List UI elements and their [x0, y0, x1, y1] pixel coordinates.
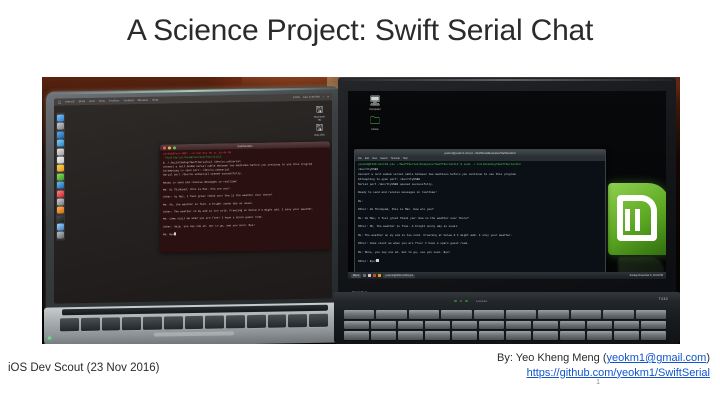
thinkpad-vendor-label: Lenovo: [477, 300, 488, 303]
start-menu-button[interactable]: Menu: [351, 274, 361, 278]
key[interactable]: [506, 310, 536, 319]
thinkpad-lid: 🖥 Computer 🗀 Home yeokm1@yeokm1-mint-pc: [338, 77, 676, 299]
author-prefix: By: Yeo Kheng Meng (: [497, 352, 606, 364]
key[interactable]: [425, 321, 450, 330]
key[interactable]: [371, 321, 396, 330]
footer-event-label: iOS Dev Scout (23 Nov 2016): [8, 362, 160, 374]
mint-taskbar[interactable]: Menu yeokm1@t430-mint64-yko Sunday Novem…: [348, 272, 666, 279]
dock-icon-mail[interactable]: [57, 140, 64, 147]
macos-menubar-status: 100% Sun 9:45 PM ⌕ ≡: [293, 93, 329, 101]
thinkpad-base: Lenovo T430: [334, 292, 680, 344]
key[interactable]: [288, 314, 307, 327]
macos-dock[interactable]: [56, 112, 65, 241]
page-title: A Science Project: Swift Serial Chat: [0, 14, 720, 48]
keyboard-row[interactable]: [344, 321, 666, 330]
key[interactable]: [441, 310, 471, 319]
key[interactable]: [474, 310, 504, 319]
search-icon[interactable]: ⌕: [323, 95, 325, 98]
key[interactable]: [506, 321, 531, 330]
key[interactable]: [560, 321, 585, 330]
menubar-item[interactable]: Help: [152, 99, 158, 102]
desktop-icon-macintosh-hd[interactable]: 🖫 Macintosh HD: [313, 105, 326, 121]
menubar-item[interactable]: Toolbelt: [123, 99, 134, 102]
macbook-trackpad[interactable]: [154, 331, 234, 336]
key[interactable]: [309, 314, 328, 327]
dock-icon-notes[interactable]: [57, 165, 64, 172]
macos-menubar[interactable]:  Xterm2 Shell Edit View Profiles Toolbe…: [54, 93, 332, 105]
computer-icon: 🖥: [364, 97, 386, 107]
key[interactable]: [452, 331, 477, 340]
taskbar-icon[interactable]: [368, 274, 371, 277]
key[interactable]: [344, 310, 374, 319]
dock-icon-launchpad[interactable]: [57, 123, 64, 130]
keyboard-row[interactable]: [344, 331, 666, 340]
author-email-link[interactable]: yeokm1@gmail.com: [607, 352, 707, 364]
repo-url-link[interactable]: https://github.com/yeokm1/SwiftSerial: [527, 367, 710, 379]
menu-search[interactable]: Search: [380, 157, 388, 160]
desktop-icon-home[interactable]: 🗀 Home: [364, 117, 386, 131]
key[interactable]: [371, 331, 396, 340]
text-cursor: [174, 232, 176, 235]
mint-terminal-output: yeokm1@t430-mint64-yko ~/SwiftSerial/Exa…: [355, 161, 605, 279]
terminal-line: Other: Bye!: [358, 259, 602, 265]
status-led-icon: [460, 300, 463, 303]
menubar-item[interactable]: View: [99, 100, 105, 103]
menu-terminal[interactable]: Terminal: [391, 157, 400, 160]
dock-icon-messages[interactable]: [57, 173, 64, 180]
menu-help[interactable]: Help: [403, 157, 408, 160]
author-line: By: Yeo Kheng Meng (yeokm1@gmail.com): [497, 351, 710, 366]
menubar-item[interactable]: Edit: [89, 100, 94, 103]
mint-bar-shape: [635, 209, 640, 231]
clock-label: Sun 9:45 PM: [303, 96, 320, 99]
key[interactable]: [571, 310, 601, 319]
key[interactable]: [479, 331, 504, 340]
menu-edit[interactable]: Edit: [365, 157, 369, 160]
dock-icon-terminal[interactable]: [57, 215, 64, 222]
dock-icon-trash[interactable]: [57, 232, 64, 239]
key[interactable]: [614, 331, 639, 340]
key[interactable]: [533, 321, 558, 330]
status-led-icon: [454, 300, 457, 303]
key[interactable]: [247, 315, 266, 328]
menu-file[interactable]: File: [358, 157, 362, 160]
repo-line: https://github.com/yeokm1/SwiftSerial: [497, 366, 710, 381]
key[interactable]: [164, 316, 183, 329]
key[interactable]: [81, 318, 100, 331]
dock-icon-appstore[interactable]: [57, 198, 64, 205]
taskbar-icon[interactable]: [378, 274, 381, 277]
menu-view[interactable]: View: [372, 157, 377, 160]
key[interactable]: [533, 331, 558, 340]
key[interactable]: [425, 331, 450, 340]
thinkpad-laptop: 🖥 Computer 🗀 Home yeokm1@yeokm1-mint-pc: [338, 77, 680, 344]
desktop-icon-label: Computer: [364, 108, 386, 111]
dock-icon-finder[interactable]: [57, 114, 64, 121]
dock-icon-photos[interactable]: [57, 190, 64, 197]
key[interactable]: [102, 317, 121, 330]
key[interactable]: [452, 321, 477, 330]
key[interactable]: [479, 321, 504, 330]
keyboard-row[interactable]: [344, 310, 666, 319]
thinkpad-model-label: T430: [659, 297, 668, 301]
folder-icon: 🗀: [364, 117, 386, 127]
taskbar-clock: Sunday November 6, 10:44 PM: [630, 274, 663, 277]
thinkpad-keyboard[interactable]: [344, 310, 666, 340]
key[interactable]: [636, 310, 666, 319]
key[interactable]: [398, 331, 423, 340]
key[interactable]: [398, 321, 423, 330]
dock-icon-xcode[interactable]: [57, 207, 64, 214]
dock-icon-calendar[interactable]: [57, 156, 64, 163]
text-cursor: [376, 259, 378, 262]
key[interactable]: [268, 314, 287, 327]
key[interactable]: [143, 317, 162, 330]
macbook-base: [44, 302, 346, 344]
dock-icon-preferences[interactable]: [57, 224, 64, 231]
power-led-icon: [48, 337, 51, 340]
author-suffix: ): [706, 352, 710, 364]
key[interactable]: [560, 331, 585, 340]
macbook-laptop:  Xterm2 Shell Edit View Profiles Toolbe…: [46, 89, 346, 344]
dock-icon-facetime[interactable]: [57, 182, 64, 189]
menubar-item[interactable]: Shell: [79, 100, 86, 103]
desktop-icon-computer[interactable]: 🖥 Computer: [364, 97, 386, 111]
mint-terminal-window[interactable]: yeokm1@yeokm1-mint-pc ~/SwiftSerial/Exam…: [354, 149, 606, 279]
key[interactable]: [587, 331, 612, 340]
menubar-status-item: 100%: [293, 96, 300, 99]
dock-icon-contacts[interactable]: [57, 148, 64, 155]
key[interactable]: [641, 331, 666, 340]
page-number: 1: [596, 379, 600, 386]
key[interactable]: [641, 321, 666, 330]
desktop-icon-data-disk[interactable]: 🖫 Data Disk: [313, 123, 326, 136]
thinkpad-screen: 🖥 Computer 🗀 Home yeokm1@yeokm1-mint-pc: [348, 91, 666, 279]
desktop-icon-label: Macintosh HD: [313, 115, 326, 121]
thinkpad-status-leds: Lenovo: [454, 298, 604, 304]
key[interactable]: [603, 310, 633, 319]
hard-drive-icon: 🖫: [313, 123, 326, 132]
key[interactable]: [185, 316, 204, 329]
hard-drive-icon: 🖫: [313, 105, 326, 114]
taskbar-icon[interactable]: [363, 274, 366, 277]
mac-terminal-output: yeokm1@Yeos-MBP:~ on Sun Nov 06 at 10:44…: [160, 147, 330, 252]
laptops-photo:  Xterm2 Shell Edit View Profiles Toolbe…: [42, 77, 680, 344]
footer-author-block: By: Yeo Kheng Meng (yeokm1@gmail.com) ht…: [497, 351, 710, 380]
macbook-lid:  Xterm2 Shell Edit View Profiles Toolbe…: [46, 86, 340, 314]
taskbar-window-button[interactable]: yeokm1@t430-mint64-yko: [383, 274, 415, 278]
menubar-item[interactable]: Window: [138, 99, 148, 102]
dock-icon-safari[interactable]: [57, 131, 64, 138]
key[interactable]: [376, 310, 406, 319]
desktop-icon-label: Home: [364, 128, 386, 131]
menu-icon[interactable]: ≡: [327, 95, 329, 98]
macbook-keyboard[interactable]: [60, 314, 328, 332]
macbook-screen:  Xterm2 Shell Edit View Profiles Toolbe…: [54, 93, 332, 303]
status-led-icon: [465, 300, 468, 303]
key[interactable]: [538, 310, 568, 319]
key[interactable]: [587, 321, 612, 330]
desktop-icon-label: Data Disk: [313, 133, 326, 136]
mint-bar-shape: [625, 209, 630, 231]
mac-terminal-window[interactable]: SwiftSerialEx yeokm1@Yeos-MBP:~ on Sun N…: [160, 141, 330, 252]
key[interactable]: [344, 331, 369, 340]
key[interactable]: [122, 317, 141, 330]
menubar-item[interactable]: Xterm2: [65, 100, 75, 103]
key[interactable]: [409, 310, 439, 319]
linux-mint-logo-icon: [608, 183, 666, 255]
key[interactable]: [344, 321, 369, 330]
taskbar-icon[interactable]: [373, 274, 376, 277]
key[interactable]: [506, 331, 531, 340]
key[interactable]: [60, 318, 79, 331]
key[interactable]: [614, 321, 639, 330]
apple-logo-icon: : [58, 100, 61, 104]
key[interactable]: [205, 315, 224, 328]
menubar-item[interactable]: Profiles: [109, 99, 119, 102]
key[interactable]: [226, 315, 245, 328]
